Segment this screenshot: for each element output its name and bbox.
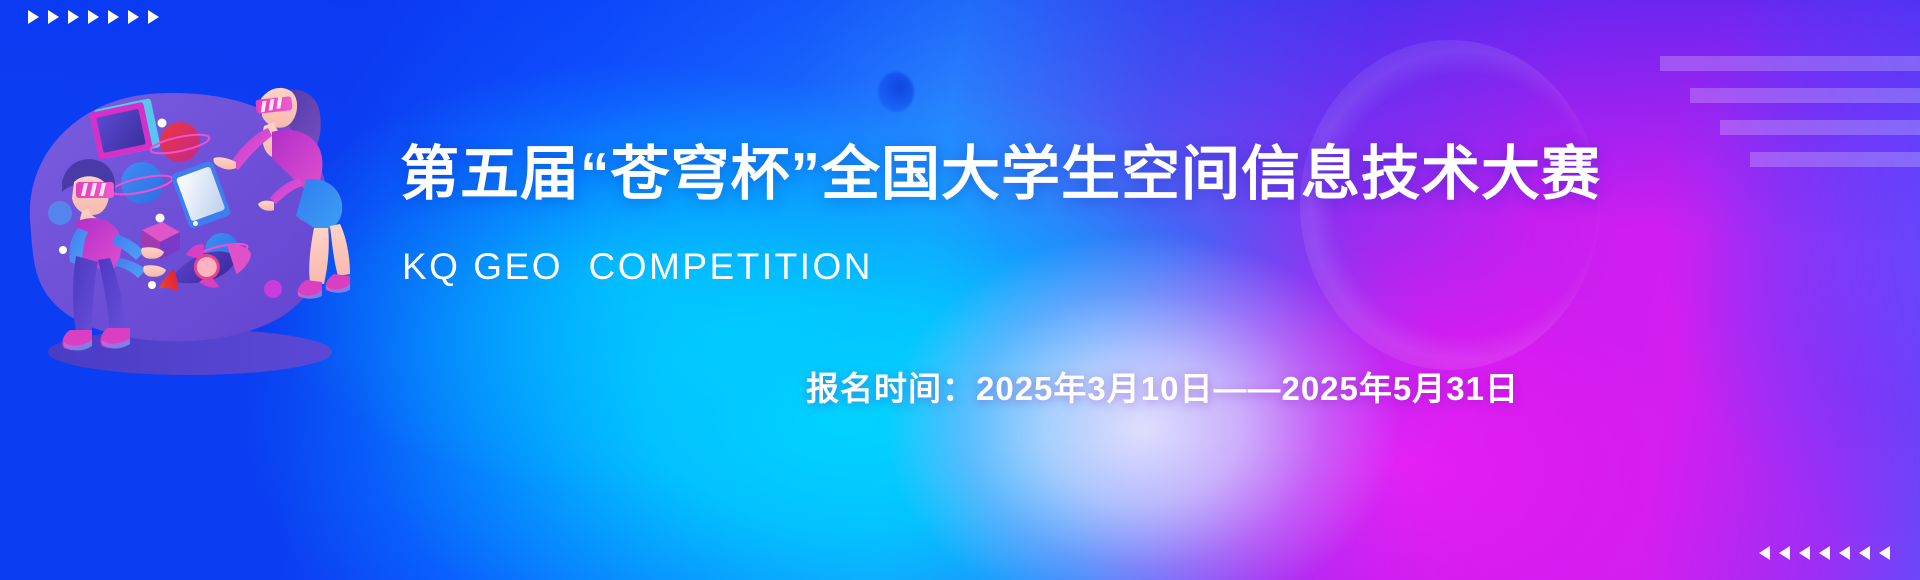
arrow-left-icon [1839,546,1850,560]
star-dot [158,119,167,128]
stripe-bar [1720,120,1920,135]
stripe-bar [1690,88,1920,103]
star-dot [148,281,156,289]
arrow-left-icon [1779,546,1790,560]
competition-banner: 第五届“苍穹杯”全国大学生空间信息技术大赛 KQ GEO COMPETITION… [0,0,1920,580]
star-dot [156,214,165,223]
star-dot [59,246,67,254]
arrow-row-bottom-right [1759,546,1890,560]
arrow-left-icon [1819,546,1830,560]
arrow-left-icon [1879,546,1890,560]
arrow-right-icon [68,10,79,24]
stripe-bar [1660,56,1920,71]
arrow-left-icon [1799,546,1810,560]
arrow-left-icon [1759,546,1770,560]
planet-dot-magenta [264,280,282,298]
registration-date: 报名时间：2025年3月10日——2025年5月31日 [806,362,1519,410]
arrow-right-icon [88,10,99,24]
arrow-row-top-left [28,10,159,24]
stripe-bar [1750,152,1920,167]
arrow-left-icon [1859,546,1870,560]
planet-dot-blue [48,201,72,225]
vr-space-illustration [20,70,350,390]
corner-stripes-decor [1660,0,1920,170]
arrow-right-icon [108,10,119,24]
moon-sphere-icon [878,72,914,112]
arrow-right-icon [128,10,139,24]
arrow-right-icon [28,10,39,24]
subtitle-english: KQ GEO COMPETITION [402,246,873,288]
page-title: 第五届“苍穹杯”全国大学生空间信息技术大赛 [400,126,1601,211]
arrow-right-icon [148,10,159,24]
arrow-right-icon [48,10,59,24]
